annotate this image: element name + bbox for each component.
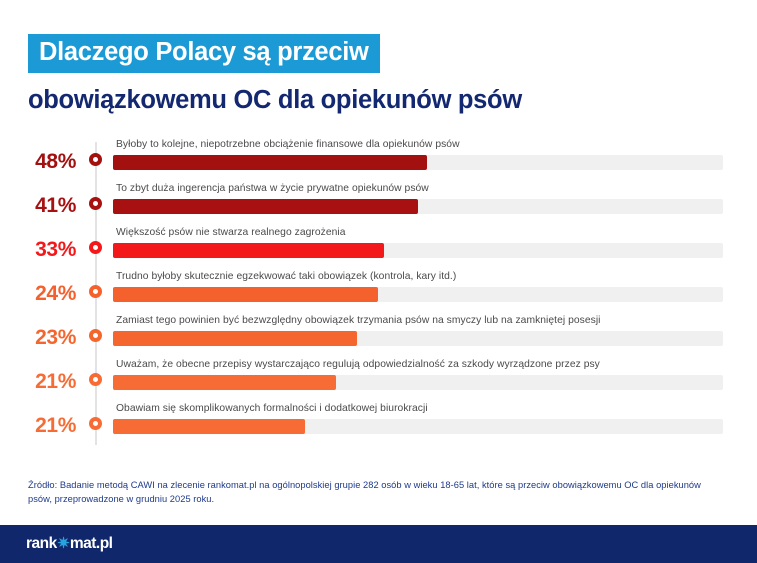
row-percent-label: 23% [0,327,76,348]
row-percent-label: 21% [0,371,76,392]
footer-bar: rank ✷ mat.pl [0,525,757,563]
row-percent-label: 33% [0,239,76,260]
title-highlight-wrap: Dlaczego Polacy są przeciw [28,34,380,73]
logo-text-prefix: rank [26,536,57,552]
bar-track [113,287,723,302]
row-text-label: Zamiast tego powinien być bezwzględny ob… [116,315,601,328]
row-text-label: Większość psów nie stwarza realnego zagr… [116,227,346,240]
row-text-label: Uważam, że obecne przepisy wystarczająco… [116,359,600,372]
row-percent-label: 21% [0,415,76,436]
infographic-page: Dlaczego Polacy są przeciw obowiązkowemu… [0,0,757,563]
bar-track [113,155,723,170]
bar-track [113,419,723,434]
chart-row: 48% Byłoby to kolejne, niepotrzebne obci… [0,139,757,182]
row-marker-icon [89,329,102,342]
row-percent-label: 24% [0,283,76,304]
page-title-line2: obowiązkowemu OC dla opiekunów psów [28,85,522,116]
chart-row: 23% Zamiast tego powinien być bezwzględn… [0,315,757,358]
row-marker-icon [89,373,102,386]
bar-fill [113,375,336,390]
row-marker-icon [89,285,102,298]
bar-track [113,243,723,258]
row-marker-icon [89,197,102,210]
rankomat-logo[interactable]: rank ✷ mat.pl [26,536,112,552]
bar-fill [113,199,418,214]
bar-fill [113,155,427,170]
row-percent-label: 41% [0,195,76,216]
row-marker-icon [89,153,102,166]
bar-fill [113,243,384,258]
chart-row: 21% Obawiam się skomplikowanych formalno… [0,403,757,446]
bar-track [113,199,723,214]
bar-track [113,331,723,346]
row-marker-icon [89,241,102,254]
bar-chart: 48% Byłoby to kolejne, niepotrzebne obci… [0,139,757,449]
chart-row: 21% Uważam, że obecne przepisy wystarcza… [0,359,757,402]
bar-track [113,375,723,390]
row-text-label: Trudno byłoby skutecznie egzekwować taki… [116,271,456,284]
bar-fill [113,331,357,346]
bar-fill [113,287,378,302]
row-text-label: Obawiam się skomplikowanych formalności … [116,403,428,416]
chart-row: 33% Większość psów nie stwarza realnego … [0,227,757,270]
bar-fill [113,419,305,434]
row-text-label: To zbyt duża ingerencja państwa w życie … [116,183,429,196]
star-icon: ✷ [57,536,69,551]
row-text-label: Byłoby to kolejne, niepotrzebne obciążen… [116,139,460,152]
row-percent-label: 48% [0,151,76,172]
source-note: Źródło: Badanie metodą CAWI na zlecenie … [28,478,718,507]
logo-text-suffix: mat.pl [70,536,113,552]
chart-row: 24% Trudno byłoby skutecznie egzekwować … [0,271,757,314]
page-title-line1: Dlaczego Polacy są przeciw [28,34,380,73]
row-marker-icon [89,417,102,430]
chart-row: 41% To zbyt duża ingerencja państwa w ży… [0,183,757,226]
